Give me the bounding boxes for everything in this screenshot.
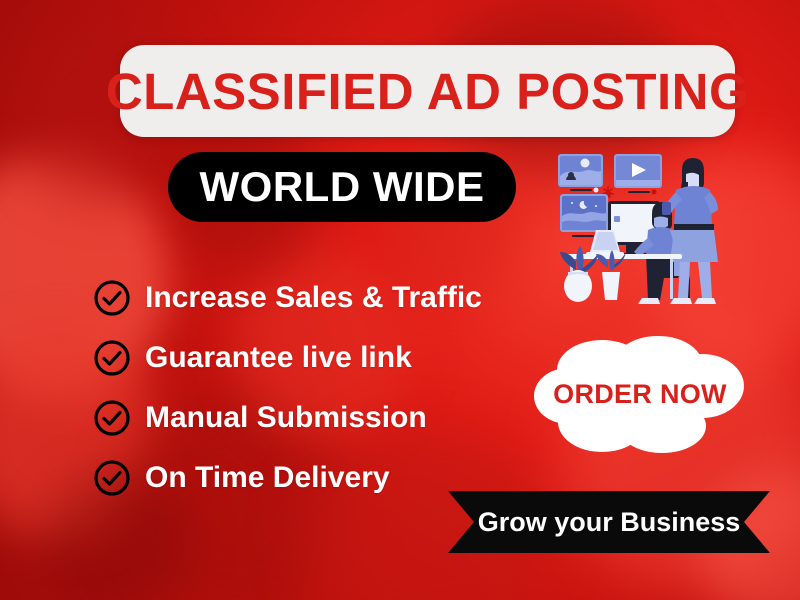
feature-label: Manual Submission [145, 401, 427, 435]
feature-item: Manual Submission [93, 388, 563, 448]
photo-card [558, 154, 603, 193]
feature-label: On Time Delivery [145, 461, 390, 495]
video-card [614, 154, 662, 195]
footer-label: Grow your Business [448, 491, 770, 553]
check-circle-icon [93, 279, 131, 317]
check-circle-icon [93, 339, 131, 377]
check-circle-icon [93, 399, 131, 437]
feature-list: Increase Sales & Traffic Guarantee live … [93, 268, 563, 508]
order-now-label: ORDER NOW [530, 334, 750, 454]
feature-item: Guarantee live link [93, 328, 563, 388]
order-now-button[interactable]: ORDER NOW [530, 334, 750, 454]
page-title: CLASSIFIED AD POSTING [106, 62, 749, 121]
feature-item: Increase Sales & Traffic [93, 268, 563, 328]
footer-ribbon: Grow your Business [448, 491, 770, 553]
check-circle-icon [93, 459, 131, 497]
feature-label: Increase Sales & Traffic [145, 281, 482, 315]
promo-banner: CLASSIFIED AD POSTING WORLD WIDE [0, 0, 800, 600]
subheadline-pill: WORLD WIDE [168, 152, 516, 222]
workspace-illustration [556, 146, 736, 311]
subheadline-label: WORLD WIDE [200, 163, 485, 211]
headline-pill: CLASSIFIED AD POSTING [120, 45, 735, 137]
feature-label: Guarantee live link [145, 341, 412, 375]
